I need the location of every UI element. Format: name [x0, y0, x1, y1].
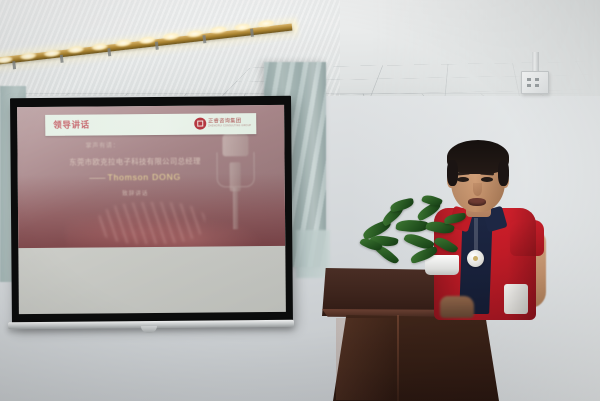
slide-line-2: 东莞市欧克拉电子科技有限公司总经理	[47, 158, 223, 168]
potted-plant-foliage	[360, 196, 475, 268]
company-logo: 正睿咨询集团 ZHENGRUI CONSULTING GROUP	[194, 117, 251, 129]
slide-bg-lines	[98, 201, 205, 244]
lectern-corner-edge	[397, 315, 399, 401]
lectern-highlight	[336, 318, 394, 400]
wall-power-outlet	[521, 71, 549, 94]
window-curtain-lower	[296, 230, 330, 278]
presenter-nose	[473, 183, 482, 196]
projected-slide: 领导讲话 正睿咨询集团 ZHENGRUI CONSULTING GROUP 掌声…	[17, 105, 285, 248]
slide-header-band: 领导讲话 正睿咨询集团 ZHENGRUI CONSULTING GROUP	[45, 113, 256, 136]
projector-screen-surface: 领导讲话 正睿咨询集团 ZHENGRUI CONSULTING GROUP 掌声…	[17, 105, 286, 314]
slide-line-3-dash: ——	[89, 173, 104, 183]
slide-title: 领导讲话	[53, 119, 90, 131]
presenter-hand	[440, 296, 474, 318]
presenter-hair-left	[447, 160, 458, 186]
presenter-eye-left	[457, 177, 469, 182]
slide-body: 掌声有请： 东莞市欧克拉电子科技有限公司总经理 ——Thomson DONG 致…	[47, 142, 224, 198]
logo-text-en: ZHENGRUI CONSULTING GROUP	[208, 125, 251, 128]
presenter-eye-right	[481, 177, 493, 182]
slide-line-3-text: Thomson DONG	[107, 172, 181, 183]
slide-line-1: 掌声有请：	[47, 142, 223, 150]
ceiling-shading	[370, 0, 600, 104]
presenter-hair-right	[498, 160, 509, 186]
logo-mark-icon	[194, 118, 206, 130]
photo-scene: 领导讲话 正睿咨询集团 ZHENGRUI CONSULTING GROUP 掌声…	[0, 0, 600, 401]
slide-line-3: ——Thomson DONG	[47, 173, 223, 184]
projector-screen: 领导讲话 正睿咨询集团 ZHENGRUI CONSULTING GROUP 掌声…	[10, 96, 293, 326]
